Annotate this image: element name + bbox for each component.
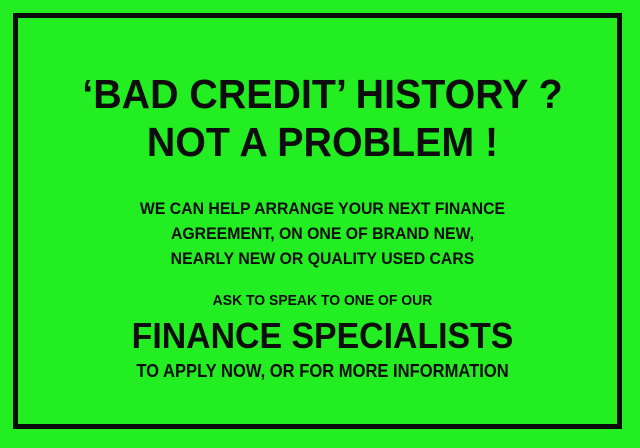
poster-border-frame: ‘BAD CREDIT’ HISTORY ? NOT A PROBLEM ! W… <box>13 13 622 429</box>
poster-content: ‘BAD CREDIT’ HISTORY ? NOT A PROBLEM ! W… <box>18 18 627 434</box>
cta-emphasis-text: FINANCE SPECIALISTS <box>36 314 608 358</box>
cta-footer-text: TO APPLY NOW, OR FOR MORE INFORMATION <box>42 359 602 383</box>
body-line-2: AGREEMENT, ON ONE OF BRAND NEW, <box>39 221 605 246</box>
body-line-3: NEARLY NEW OR QUALITY USED CARS <box>39 246 605 271</box>
cta-lead-in-text: ASK TO SPEAK TO ONE OF OUR <box>39 290 605 312</box>
body-line-1: WE CAN HELP ARRANGE YOUR NEXT FINANCE <box>39 196 605 221</box>
headline-block: ‘BAD CREDIT’ HISTORY ? NOT A PROBLEM ! <box>18 70 627 166</box>
headline-line-2: NOT A PROBLEM ! <box>30 118 615 166</box>
advert-poster: ‘BAD CREDIT’ HISTORY ? NOT A PROBLEM ! W… <box>0 0 640 448</box>
call-to-action-block: ASK TO SPEAK TO ONE OF OUR FINANCE SPECI… <box>18 290 627 383</box>
body-paragraph-block: WE CAN HELP ARRANGE YOUR NEXT FINANCE AG… <box>18 196 627 271</box>
headline-line-1: ‘BAD CREDIT’ HISTORY ? <box>30 70 615 118</box>
